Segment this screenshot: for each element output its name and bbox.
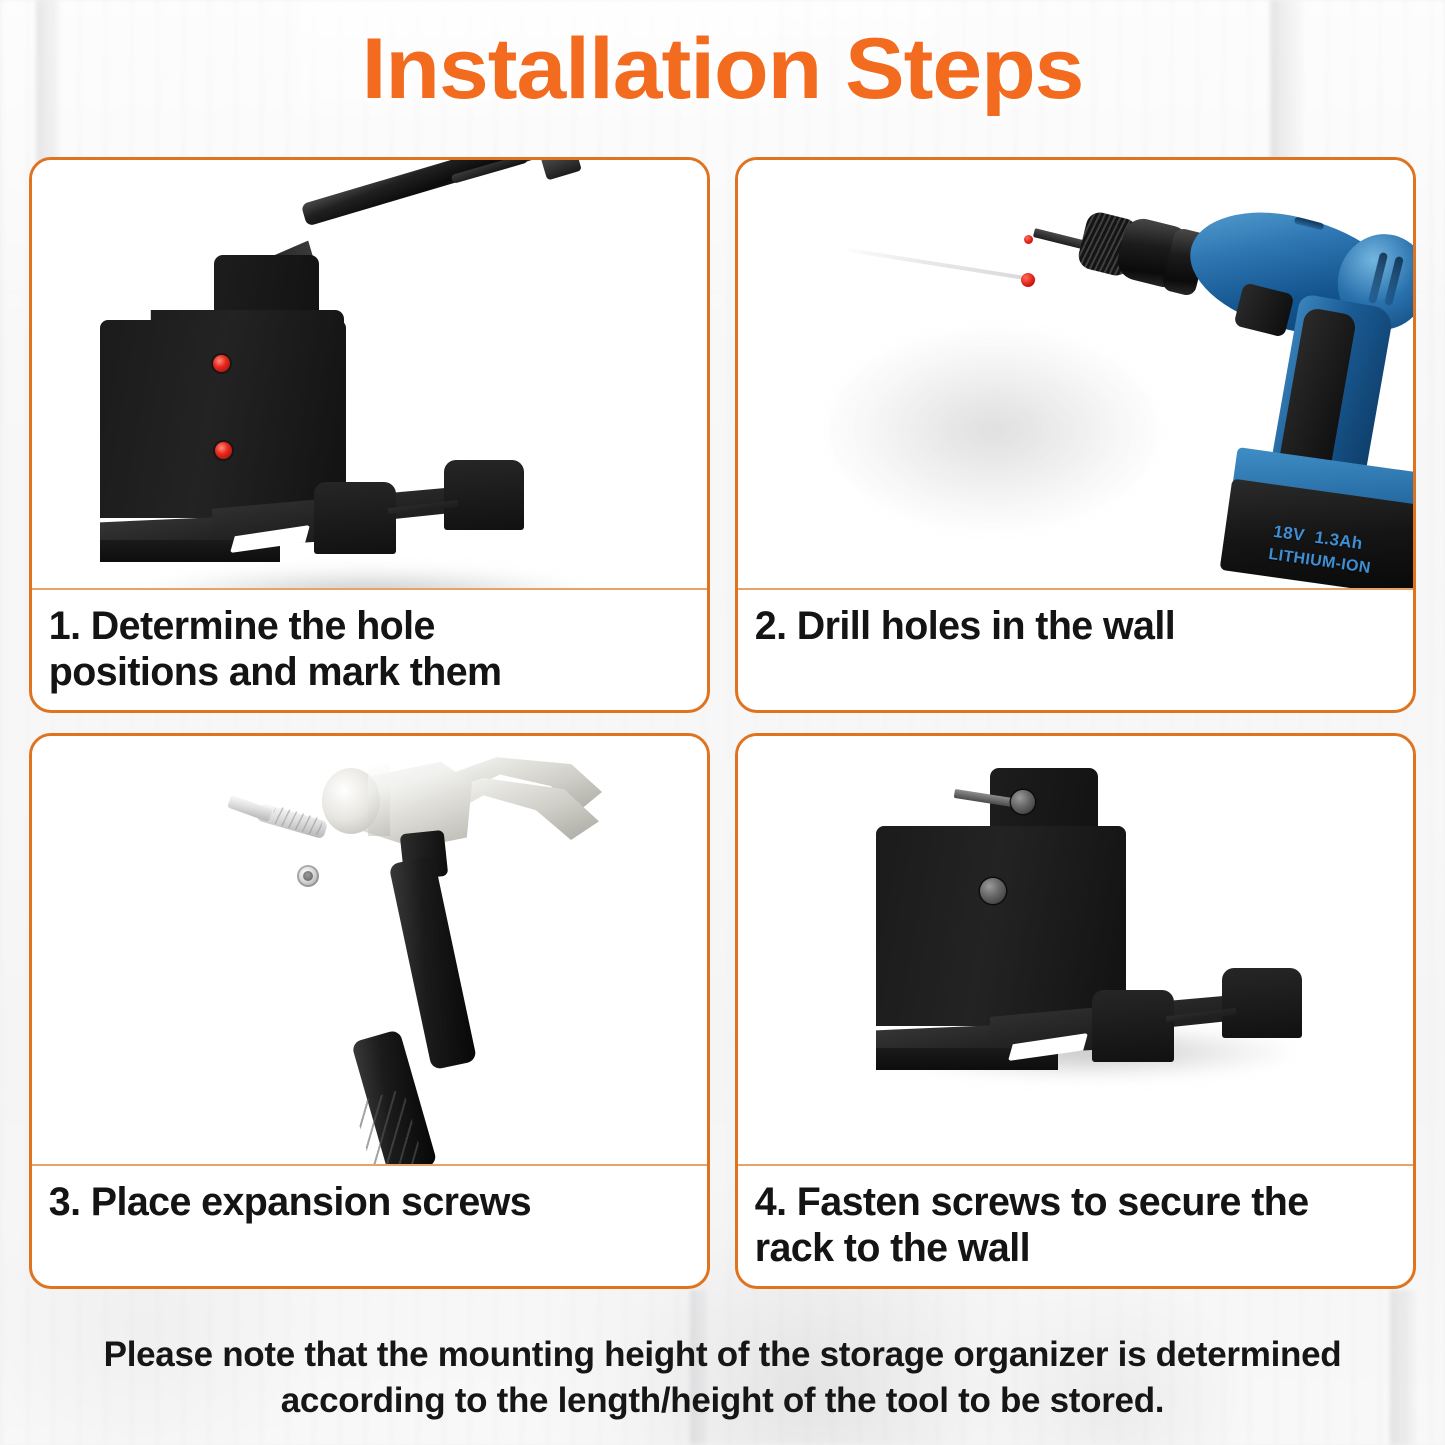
- footer-line-1: Please note that the mounting height of …: [40, 1332, 1405, 1378]
- screw-head-upper: [1011, 790, 1035, 814]
- step-panel-1: 1. Determine the holepositions and mark …: [29, 157, 710, 713]
- claw-hammer: [32, 736, 707, 1164]
- step-1-caption: 1. Determine the holepositions and mark …: [32, 590, 697, 710]
- step-panel-2: 18V 1.3Ah LITHIUM-ION 2. Drill holes in …: [735, 157, 1416, 713]
- footer-line-2: according to the length/height of the to…: [40, 1378, 1405, 1424]
- cordless-drill: 18V 1.3Ah LITHIUM-ION: [738, 160, 1413, 588]
- steps-grid: 1. Determine the holepositions and mark …: [29, 157, 1416, 1289]
- step-2-illustration: 18V 1.3Ah LITHIUM-ION: [738, 160, 1413, 588]
- step-3-caption: 3. Place expansion screws: [32, 1166, 697, 1286]
- marked-hole-upper: [213, 355, 230, 372]
- marked-hole-lower: [215, 442, 232, 459]
- screw-head-lower: [980, 878, 1006, 904]
- step-panel-3: 3. Place expansion screws: [29, 733, 710, 1289]
- step-panel-4: 4. Fasten screws to secure therack to th…: [735, 733, 1416, 1289]
- step-1-illustration: [32, 160, 707, 588]
- step-2-caption: 2. Drill holes in the wall: [738, 590, 1403, 710]
- step-4-caption: 4. Fasten screws to secure therack to th…: [738, 1166, 1403, 1286]
- step-4-illustration: [738, 736, 1413, 1164]
- footer-note: Please note that the mounting height of …: [40, 1332, 1405, 1423]
- step-3-illustration: [32, 736, 707, 1164]
- page-title: Installation Steps: [0, 26, 1445, 112]
